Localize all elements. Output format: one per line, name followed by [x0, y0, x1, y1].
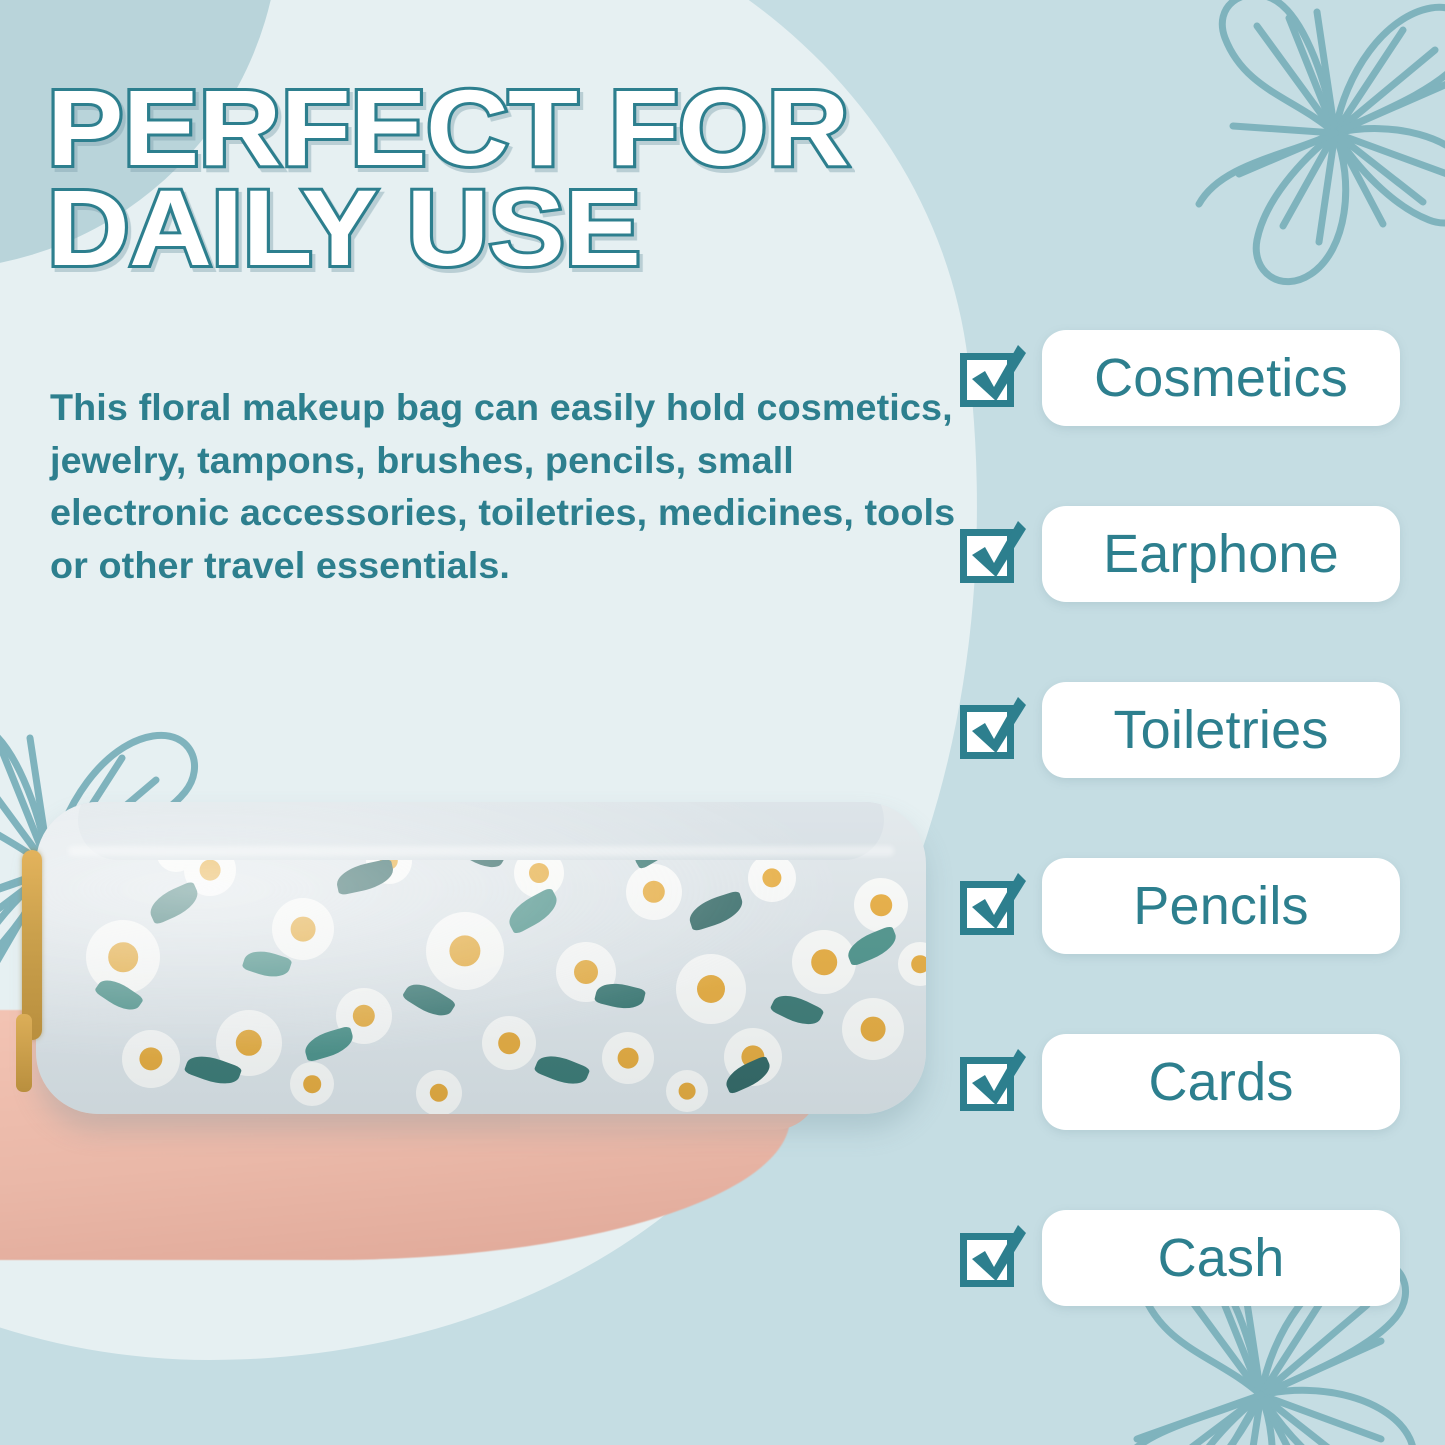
feature-checklist: Cosmetics Earphone Toiletries: [960, 330, 1400, 1306]
checklist-label: Cards: [1148, 1051, 1293, 1113]
checklist-label: Cash: [1158, 1227, 1285, 1289]
checklist-item[interactable]: Cards: [960, 1034, 1400, 1130]
checklist-pill[interactable]: Cosmetics: [1042, 330, 1400, 426]
checklist-item[interactable]: Pencils: [960, 858, 1400, 954]
checklist-item[interactable]: Cosmetics: [960, 330, 1400, 426]
zipper: [22, 850, 42, 1040]
checklist-pill[interactable]: Pencils: [1042, 858, 1400, 954]
checkbox-checked-icon[interactable]: [960, 873, 1026, 939]
checklist-label: Earphone: [1103, 523, 1339, 585]
headline-line-2: DAILY USE: [47, 178, 1065, 278]
promo-image: PERFECT FOR DAILY USE This floral makeup…: [0, 0, 1445, 1445]
checkbox-checked-icon[interactable]: [960, 521, 1026, 587]
product-photo: [0, 742, 960, 1445]
checklist-item[interactable]: Earphone: [960, 506, 1400, 602]
description-text: This floral makeup bag can easily hold c…: [50, 382, 973, 592]
checklist-pill[interactable]: Cards: [1042, 1034, 1400, 1130]
checklist-label: Toiletries: [1113, 699, 1328, 761]
checklist-pill[interactable]: Toiletries: [1042, 682, 1400, 778]
zipper-pull: [16, 1014, 32, 1092]
headline: PERFECT FOR DAILY USE: [47, 78, 1065, 279]
checklist-label: Pencils: [1133, 875, 1308, 937]
checklist-pill[interactable]: Earphone: [1042, 506, 1400, 602]
checklist-item[interactable]: Cash: [960, 1210, 1400, 1306]
bag-seam: [68, 846, 894, 856]
checkbox-checked-icon[interactable]: [960, 1049, 1026, 1115]
checkbox-checked-icon[interactable]: [960, 697, 1026, 763]
checklist-label: Cosmetics: [1094, 347, 1348, 409]
checklist-item[interactable]: Toiletries: [960, 682, 1400, 778]
checkbox-checked-icon[interactable]: [960, 1225, 1026, 1291]
checklist-pill[interactable]: Cash: [1042, 1210, 1400, 1306]
makeup-bag: [36, 802, 926, 1114]
checkbox-checked-icon[interactable]: [960, 345, 1026, 411]
